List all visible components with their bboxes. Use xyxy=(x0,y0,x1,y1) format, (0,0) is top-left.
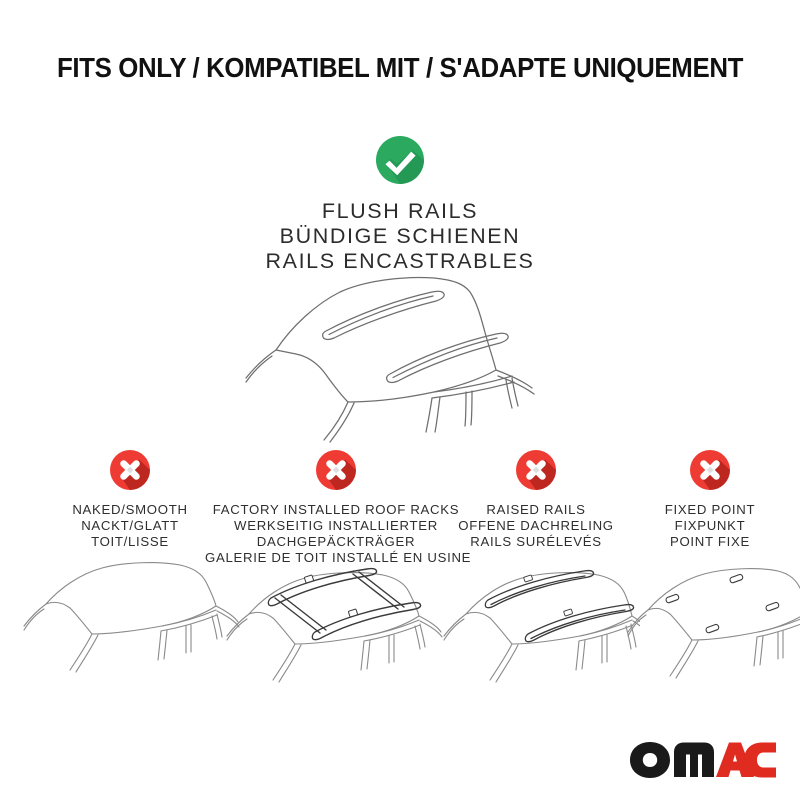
compatible-labels: FLUSH RAILS BÜNDIGE SCHIENEN RAILS ENCAS… xyxy=(0,199,800,274)
omac-logo: OMAC xyxy=(628,740,778,780)
label-line-2: OFFENE DACHRELING xyxy=(432,518,640,534)
incompatible-item-fixed-point: FIXED POINT FIXPUNKT POINT FIXE xyxy=(620,448,800,550)
compatible-label-en: FLUSH RAILS xyxy=(0,199,800,224)
incompatible-labels-fixed-point: FIXED POINT FIXPUNKT POINT FIXE xyxy=(620,502,800,550)
label-line-2: WERKSEITIG INSTALLIERTER xyxy=(205,518,467,534)
compatible-label-de: BÜNDIGE SCHIENEN xyxy=(0,224,800,249)
label-line-1: RAISED RAILS xyxy=(432,502,640,518)
logo-text: OMAC xyxy=(628,780,629,781)
incompatible-row: NAKED/SMOOTH NACKT/GLATT TOIT/LISSE xyxy=(0,448,800,708)
car-roof-raised-rails-illustration xyxy=(432,548,640,688)
cross-circle-icon xyxy=(514,448,558,492)
compatible-section: FLUSH RAILS BÜNDIGE SCHIENEN RAILS ENCAS… xyxy=(0,134,800,274)
label-line-1: FIXED POINT xyxy=(620,502,800,518)
car-roof-factory-rack-illustration xyxy=(205,548,467,688)
cross-circle-icon xyxy=(314,448,358,492)
label-line-2: FIXPUNKT xyxy=(620,518,800,534)
car-roof-flush-rails-illustration xyxy=(220,270,580,445)
cross-circle-icon xyxy=(108,448,152,492)
cross-circle-icon xyxy=(688,448,732,492)
incompatible-labels-raised-rails: RAISED RAILS OFFENE DACHRELING RAILS SUR… xyxy=(432,502,640,550)
page-title: FITS ONLY / KOMPATIBEL MIT / S'ADAPTE UN… xyxy=(24,52,776,84)
incompatible-item-factory-installed-roof-racks: FACTORY INSTALLED ROOF RACKS WERKSEITIG … xyxy=(205,448,467,566)
label-line-3: POINT FIXE xyxy=(620,534,800,550)
car-roof-fixed-point-illustration xyxy=(620,552,800,688)
incompatible-item-raised-rails: RAISED RAILS OFFENE DACHRELING RAILS SUR… xyxy=(432,448,640,550)
check-circle-icon xyxy=(374,134,426,186)
label-line-1: FACTORY INSTALLED ROOF RACKS xyxy=(205,502,467,518)
